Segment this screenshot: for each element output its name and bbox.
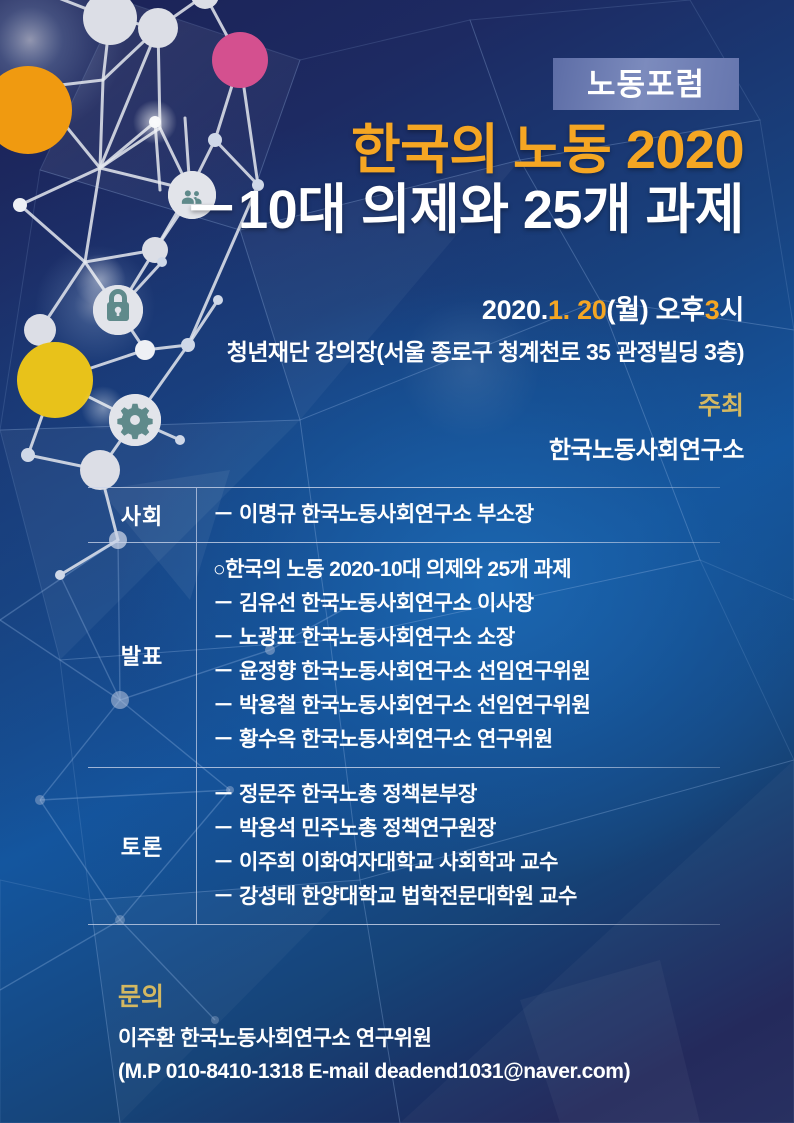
table-divider: [88, 924, 720, 925]
forum-badge: 노동포럼: [553, 58, 739, 110]
program-table: 사회 － 이명규 한국노동사회연구소 부소장 발표 ○한국의 노동 2020-1…: [88, 487, 720, 925]
program-row-label: 발표: [88, 543, 196, 767]
contact-person: 이주환 한국노동사회연구소 연구위원: [118, 1022, 432, 1052]
date-day: 20: [570, 295, 607, 325]
date-year: 2020.: [482, 295, 548, 325]
list-item: － 이주희 이화여자대학교 사회학과 교수: [213, 846, 720, 880]
contact-details: (M.P 010-8410-1318 E-mail deadend1031@na…: [118, 1060, 630, 1084]
list-item: － 박용석 민주노총 정책연구원장: [213, 812, 720, 846]
date-weekday: (월) 오후: [607, 295, 705, 325]
date-month: 1.: [548, 295, 570, 325]
program-row-items: － 이명규 한국노동사회연구소 부소장: [196, 488, 720, 542]
program-row-label: 토론: [88, 768, 196, 924]
list-item: － 노광표 한국노동사회연구소 소장: [213, 621, 720, 655]
list-item: － 정문주 한국노총 정책본부장: [213, 778, 720, 812]
date-hour: 3: [705, 295, 720, 325]
list-item: － 김유선 한국노동사회연구소 이사장: [213, 587, 720, 621]
list-item: － 윤정향 한국노동사회연구소 선임연구위원: [213, 655, 720, 689]
node: [138, 8, 178, 48]
list-item: － 황수옥 한국노동사회연구소 연구위원: [213, 723, 720, 757]
node: [55, 570, 65, 580]
list-item: ○한국의 노동 2020-10대 의제와 25개 과제: [213, 553, 720, 587]
date-hour-suffix: 시: [719, 295, 744, 325]
node: [35, 795, 45, 805]
poster-canvas: 노동포럼 한국의 노동 2020 －10대 의제와 25개 과제 2020.1.…: [0, 0, 794, 1123]
contact-label: 문의: [118, 977, 164, 1013]
node: [157, 257, 167, 267]
host-label: 주최: [0, 386, 794, 422]
list-item: － 강성태 한양대학교 법학전문대학원 교수: [213, 880, 720, 914]
program-row-presentation: 발표 ○한국의 노동 2020-10대 의제와 25개 과제 － 김유선 한국노…: [88, 543, 720, 767]
node: [191, 0, 219, 9]
event-datetime: 2020.1. 20(월) 오후3시: [0, 288, 794, 327]
program-row-items: － 정문주 한국노총 정책본부장 － 박용석 민주노총 정책연구원장 － 이주희…: [196, 768, 720, 924]
event-venue: 청년재단 강의장(서울 종로구 청계천로 35 관정빌딩 3층): [0, 333, 794, 367]
list-item: － 박용철 한국노동사회연구소 선임연구위원: [213, 689, 720, 723]
program-row-moderator: 사회 － 이명규 한국노동사회연구소 부소장: [88, 488, 720, 542]
program-row-discussion: 토론 － 정문주 한국노총 정책본부장 － 박용석 민주노총 정책연구원장 － …: [88, 768, 720, 924]
forum-badge-label: 노동포럼: [587, 69, 705, 100]
host-name: 한국노동사회연구소: [0, 430, 794, 465]
program-row-items: ○한국의 노동 2020-10대 의제와 25개 과제 － 김유선 한국노동사회…: [196, 543, 720, 767]
program-row-label: 사회: [88, 488, 196, 542]
poster-title: 한국의 노동 2020 －10대 의제와 25개 과제: [0, 120, 794, 241]
title-line-2: －10대 의제와 25개 과제: [0, 180, 744, 240]
list-item: － 이명규 한국노동사회연구소 부소장: [213, 498, 720, 532]
title-line-1: 한국의 노동 2020: [0, 120, 744, 180]
node-pink: [212, 32, 268, 88]
